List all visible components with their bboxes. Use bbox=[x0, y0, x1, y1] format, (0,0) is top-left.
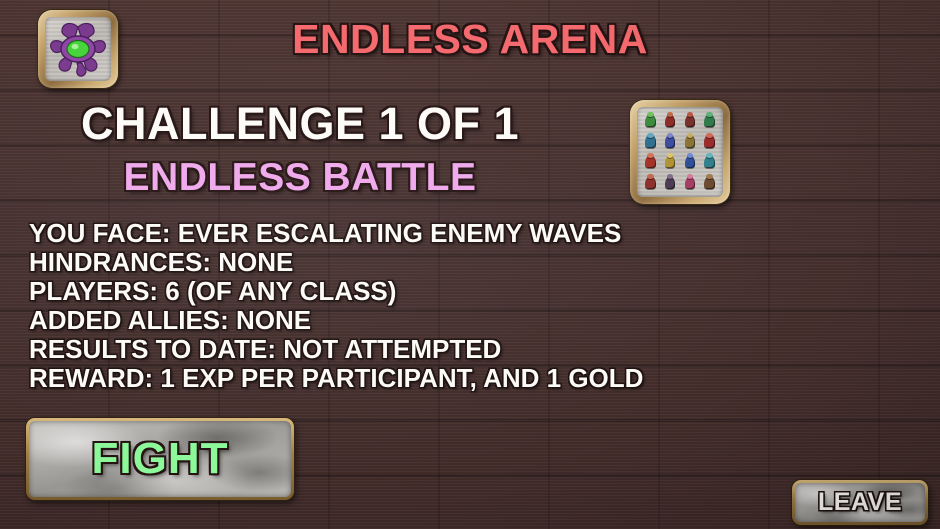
fight-button[interactable]: FIGHT bbox=[26, 418, 294, 500]
enemy-sprite bbox=[641, 153, 660, 173]
enemy-sprite-head bbox=[687, 112, 693, 117]
enemy-sprite bbox=[700, 153, 719, 173]
enemy-sprite bbox=[661, 111, 680, 131]
challenge-detail-line: REWARD: 1 EXP PER PARTICIPANT, AND 1 GOL… bbox=[29, 364, 689, 393]
enemy-sprite bbox=[681, 132, 700, 152]
enemy-sprite bbox=[661, 132, 680, 152]
enemy-sprite bbox=[700, 132, 719, 152]
leave-button-label: LEAVE bbox=[818, 488, 902, 517]
enemy-sprite-head bbox=[706, 174, 712, 179]
roster-icon-inner bbox=[637, 107, 723, 197]
fight-button-face: FIGHT bbox=[29, 421, 291, 497]
challenge-detail-line: HINDRANCES: NONE bbox=[29, 248, 689, 277]
enemy-sprite-grid bbox=[641, 111, 719, 193]
enemy-sprite bbox=[661, 153, 680, 173]
enemy-sprite-head bbox=[706, 133, 712, 138]
enemy-sprite-head bbox=[647, 174, 653, 179]
enemy-sprite bbox=[641, 111, 660, 131]
enemy-sprite-head bbox=[687, 133, 693, 138]
challenge-detail-line: YOU FACE: EVER ESCALATING ENEMY WAVES bbox=[29, 219, 689, 248]
enemy-sprite bbox=[700, 173, 719, 193]
endless-arena-screen: ENDLESS ARENA CHALLENGE 1 OF 1 ENDLESS B… bbox=[0, 0, 940, 529]
page-title: ENDLESS ARENA bbox=[0, 16, 940, 63]
challenge-detail-line: PLAYERS: 6 (OF ANY CLASS) bbox=[29, 277, 689, 306]
challenge-details: YOU FACE: EVER ESCALATING ENEMY WAVESHIN… bbox=[29, 219, 689, 393]
challenge-name: ENDLESS BATTLE bbox=[0, 156, 600, 200]
challenge-counter-heading: CHALLENGE 1 OF 1 bbox=[0, 98, 600, 150]
enemy-sprite bbox=[681, 111, 700, 131]
fight-button-label: FIGHT bbox=[92, 434, 229, 484]
enemy-sprite-head bbox=[647, 112, 653, 117]
leave-button-face: LEAVE bbox=[795, 483, 925, 522]
challenge-detail-line: RESULTS TO DATE: NOT ATTEMPTED bbox=[29, 335, 689, 364]
enemy-sprite bbox=[681, 173, 700, 193]
enemy-sprite-head bbox=[647, 133, 653, 138]
enemy-roster-icon[interactable] bbox=[630, 100, 730, 204]
enemy-sprite bbox=[641, 132, 660, 152]
enemy-sprite bbox=[681, 153, 700, 173]
leave-button[interactable]: LEAVE bbox=[792, 480, 928, 525]
enemy-sprite bbox=[661, 173, 680, 193]
enemy-sprite bbox=[641, 173, 660, 193]
enemy-sprite-head bbox=[706, 112, 712, 117]
enemy-sprite-head bbox=[667, 133, 673, 138]
challenge-detail-line: ADDED ALLIES: NONE bbox=[29, 306, 689, 335]
enemy-sprite bbox=[700, 111, 719, 131]
